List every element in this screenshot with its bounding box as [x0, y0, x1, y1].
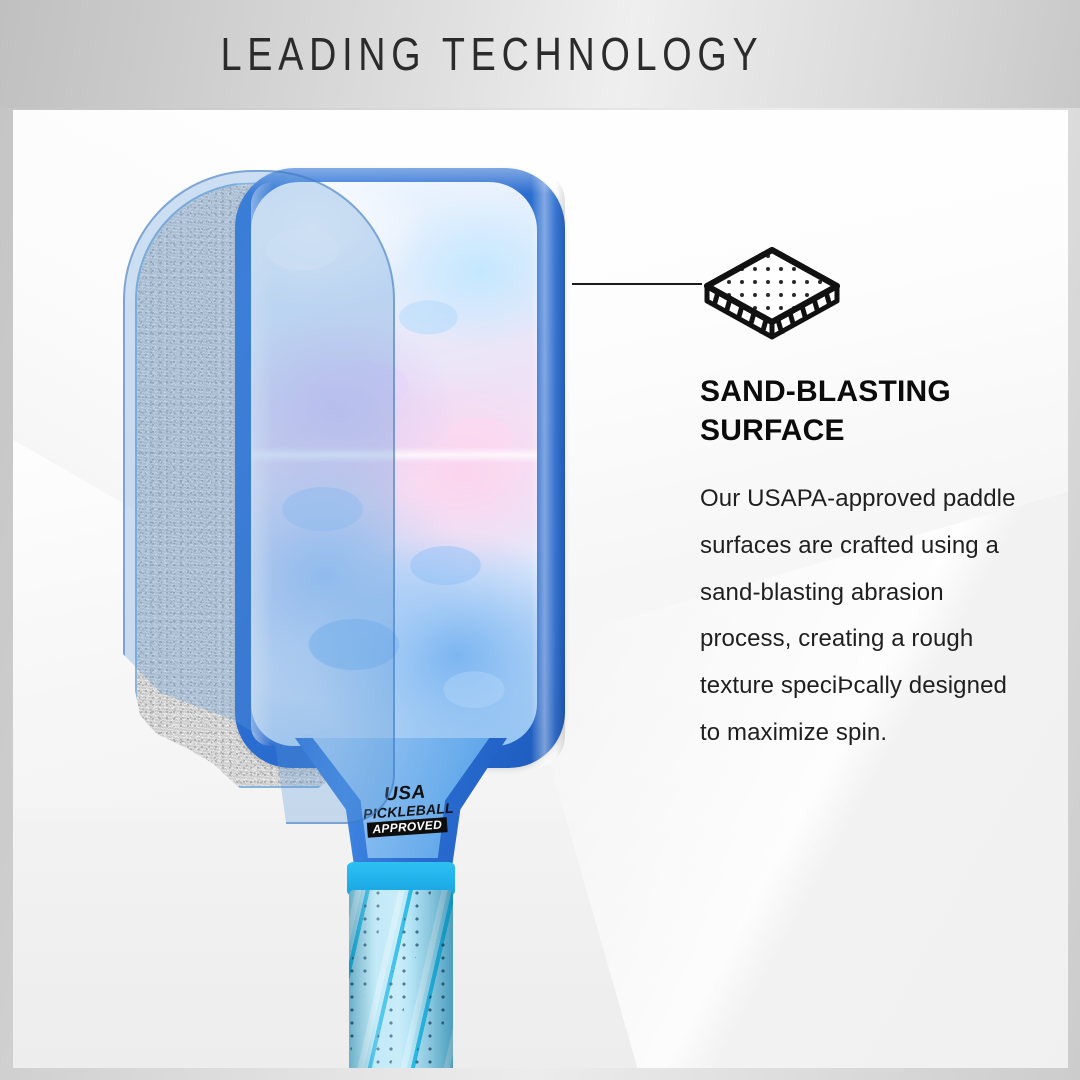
paddle-face-pattern	[251, 182, 537, 746]
infographic-canvas: LEADING TECHNOLOGY	[0, 0, 1080, 1080]
page-title: LEADING TECHNOLOGY	[221, 27, 764, 81]
iridescent-paddle-face	[251, 182, 537, 746]
sand-blasted-slab-icon	[700, 240, 850, 340]
usapa-approved-badge: USA PICKLEBALL APPROVED	[361, 781, 450, 838]
paddle-edge-guard	[235, 168, 565, 768]
paddle-grip	[349, 890, 453, 1068]
content-panel: USA PICKLEBALL APPROVED	[13, 110, 1068, 1068]
grip-shading	[349, 890, 453, 1068]
feature-heading: SAND-BLASTING SURFACE	[700, 372, 1030, 450]
feature-callout: SAND-BLASTING SURFACE Our USAPA-approved…	[700, 240, 1030, 757]
header-band: LEADING TECHNOLOGY	[0, 0, 1080, 108]
pickleball-paddle: USA PICKLEBALL APPROVED	[235, 168, 565, 1068]
feature-body-text: Our USAPA-approved paddle surfaces are c…	[700, 476, 1030, 757]
paddle-face-highlight-band	[251, 447, 537, 463]
leader-line	[572, 283, 702, 285]
